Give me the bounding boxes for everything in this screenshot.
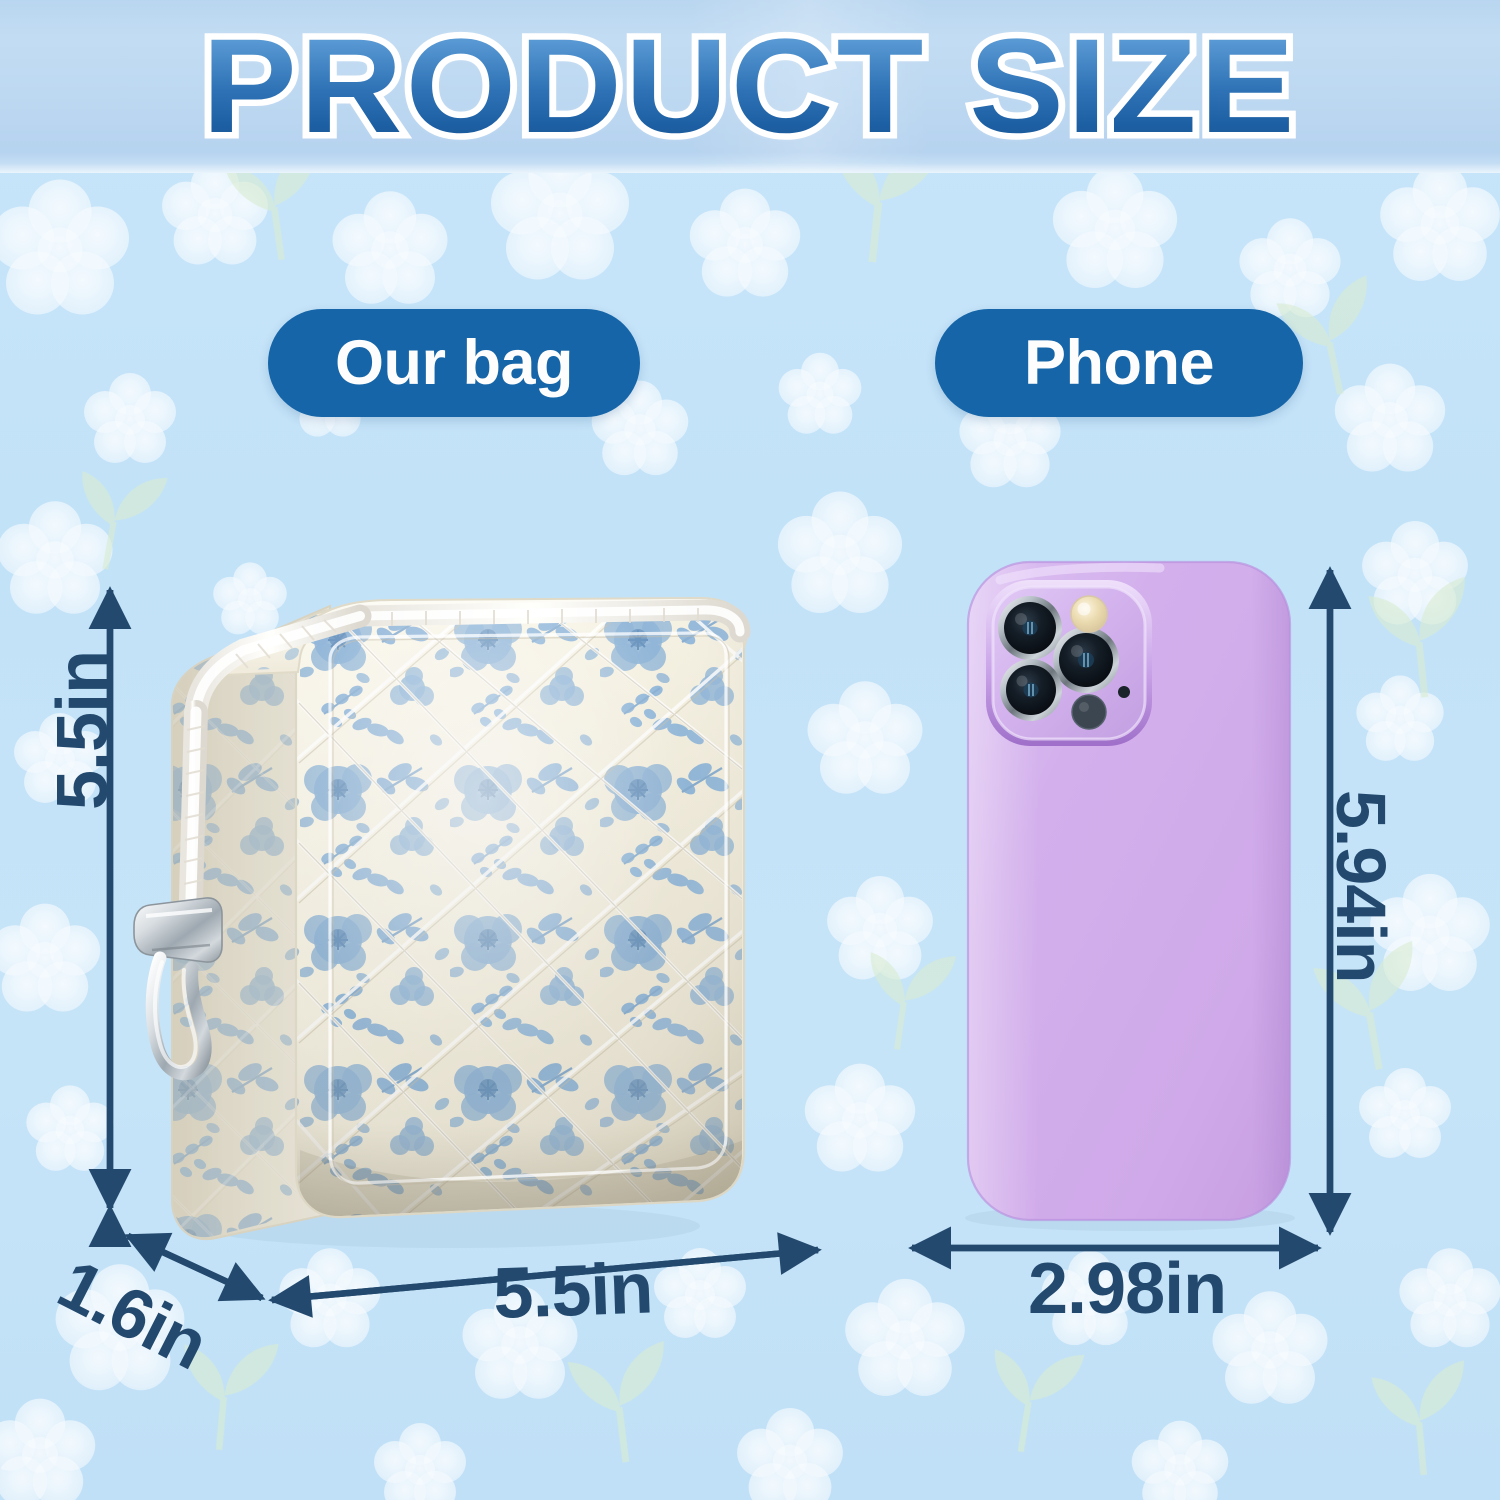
dimension-label-phone-width: 2.98in	[1028, 1253, 1226, 1325]
page-title-fill: PRODUCT SIZE	[202, 12, 1298, 161]
badge-phone-label: Phone	[1024, 332, 1214, 395]
dimension-label-bag-height: 5.5in	[47, 651, 119, 810]
dimension-label-bag-width: 5.5in	[492, 1252, 653, 1330]
page-title-wrapper: PRODUCT SIZE PRODUCT SIZE	[0, 0, 1500, 173]
background-floral-pattern	[0, 0, 1500, 1500]
dimension-label-phone-height: 5.94in	[1326, 790, 1396, 982]
page-title: PRODUCT SIZE PRODUCT SIZE	[202, 20, 1298, 154]
badge-our-bag-label: Our bag	[335, 332, 573, 395]
badge-phone[interactable]: Phone	[935, 309, 1303, 417]
badge-our-bag[interactable]: Our bag	[268, 309, 640, 417]
infographic-canvas: PRODUCT SIZE PRODUCT SIZE Our bag Phone	[0, 0, 1500, 1500]
